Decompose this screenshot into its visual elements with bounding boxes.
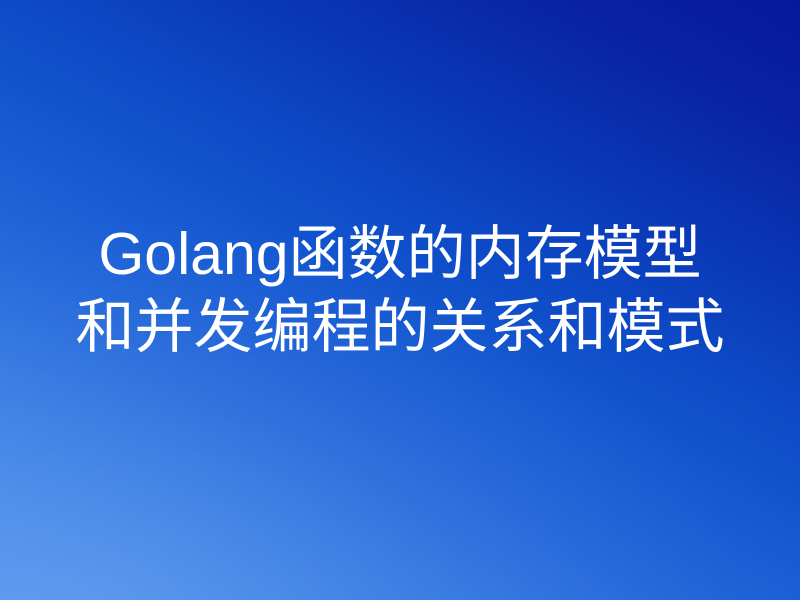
title-poster: Golang函数的内存模型 和并发编程的关系和模式: [0, 0, 800, 600]
poster-title-block: Golang函数的内存模型 和并发编程的关系和模式: [0, 218, 800, 364]
page-title-line-2: 和并发编程的关系和模式: [0, 291, 800, 364]
page-title-line-1: Golang函数的内存模型: [0, 218, 800, 291]
